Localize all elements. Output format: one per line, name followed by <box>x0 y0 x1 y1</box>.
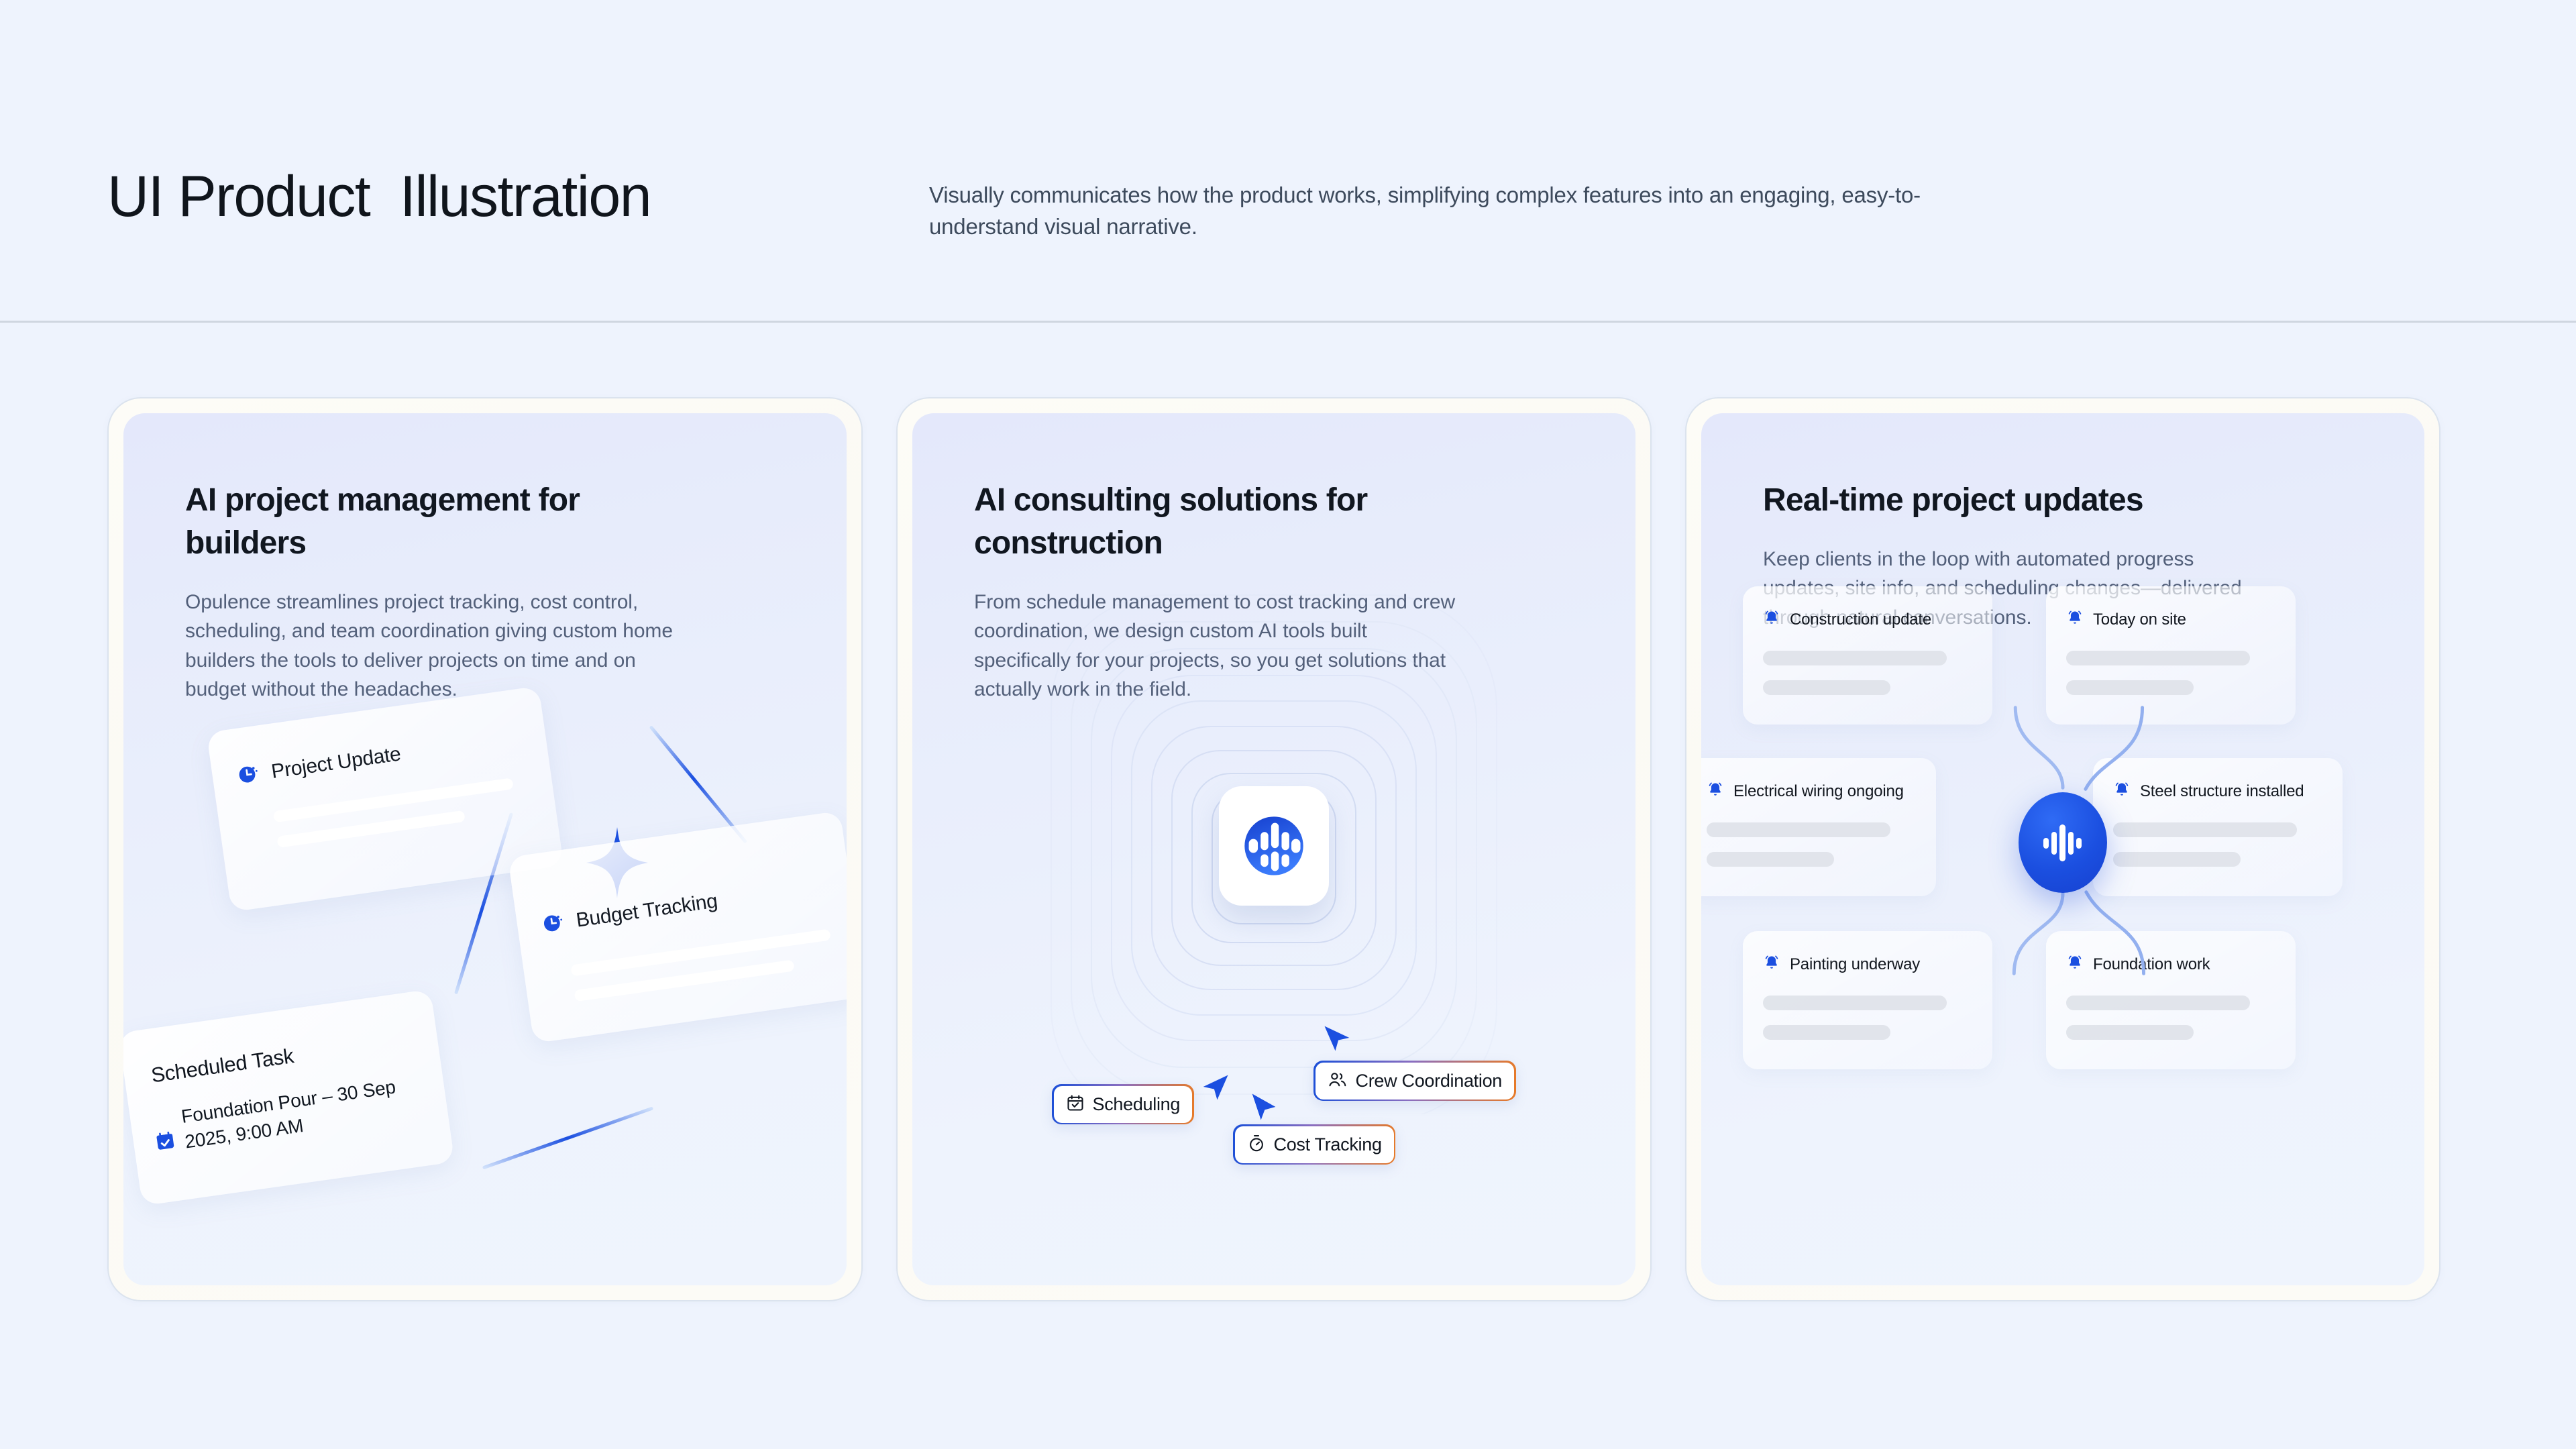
feature-card-row: AI project management for builders Opule… <box>107 397 2440 1301</box>
voice-waveform-orb <box>2019 792 2107 893</box>
waveform-icon <box>2041 820 2084 865</box>
note-label: Project Update <box>270 743 402 784</box>
badge-cost-tracking[interactable]: Cost Tracking <box>1233 1124 1395 1165</box>
badge-scheduling[interactable]: Scheduling <box>1052 1084 1194 1124</box>
badge-crew-coordination[interactable]: Crew Coordination <box>1313 1061 1516 1101</box>
page-title: UI Product Illustration <box>107 168 929 243</box>
feature-card-ai-project-management[interactable]: AI project management for builders Opule… <box>107 397 863 1301</box>
badge-label: Scheduling <box>1093 1094 1181 1115</box>
opulence-waveform-logo-icon <box>1239 811 1309 881</box>
badge-label: Cost Tracking <box>1274 1134 1382 1155</box>
clock-icon <box>540 910 566 938</box>
card-illustration-realtime-updates: Construction update <box>1701 413 2424 1285</box>
stopwatch-icon <box>1247 1134 1266 1156</box>
note-label: Budget Tracking <box>575 890 719 932</box>
illustration-page: UI Product Illustration Visually communi… <box>0 0 2576 1449</box>
header-divider <box>0 321 2576 323</box>
calendar-check-icon <box>150 1106 177 1155</box>
badge-label: Crew Coordination <box>1356 1071 1503 1091</box>
feature-card-ai-consulting[interactable]: AI consulting solutions for construction… <box>896 397 1652 1301</box>
scheduled-task-title: Scheduled Task <box>150 1044 295 1087</box>
arrow-cursor-icon <box>1197 1069 1232 1104</box>
page-subtitle: Visually communicates how the product wo… <box>929 168 1976 243</box>
skeleton-line <box>273 777 514 822</box>
opulence-logo-tile <box>1219 786 1329 906</box>
card-illustration-project-management: Project Update <box>123 413 847 1285</box>
arrow-cursor-icon <box>1320 1020 1355 1055</box>
scheduled-task-detail: Foundation Pour – 30 Sep 2025, 9:00 AM <box>180 1074 401 1155</box>
arrow-cursor-icon <box>1246 1089 1281 1124</box>
card-illustration-consulting: Scheduling <box>912 413 1635 1285</box>
users-icon <box>1328 1070 1348 1092</box>
calendar-check-icon <box>1066 1093 1085 1116</box>
clock-icon <box>235 761 262 790</box>
feature-card-realtime-updates[interactable]: Real-time project updates Keep clients i… <box>1685 397 2440 1301</box>
page-header: UI Product Illustration Visually communi… <box>0 0 2576 321</box>
